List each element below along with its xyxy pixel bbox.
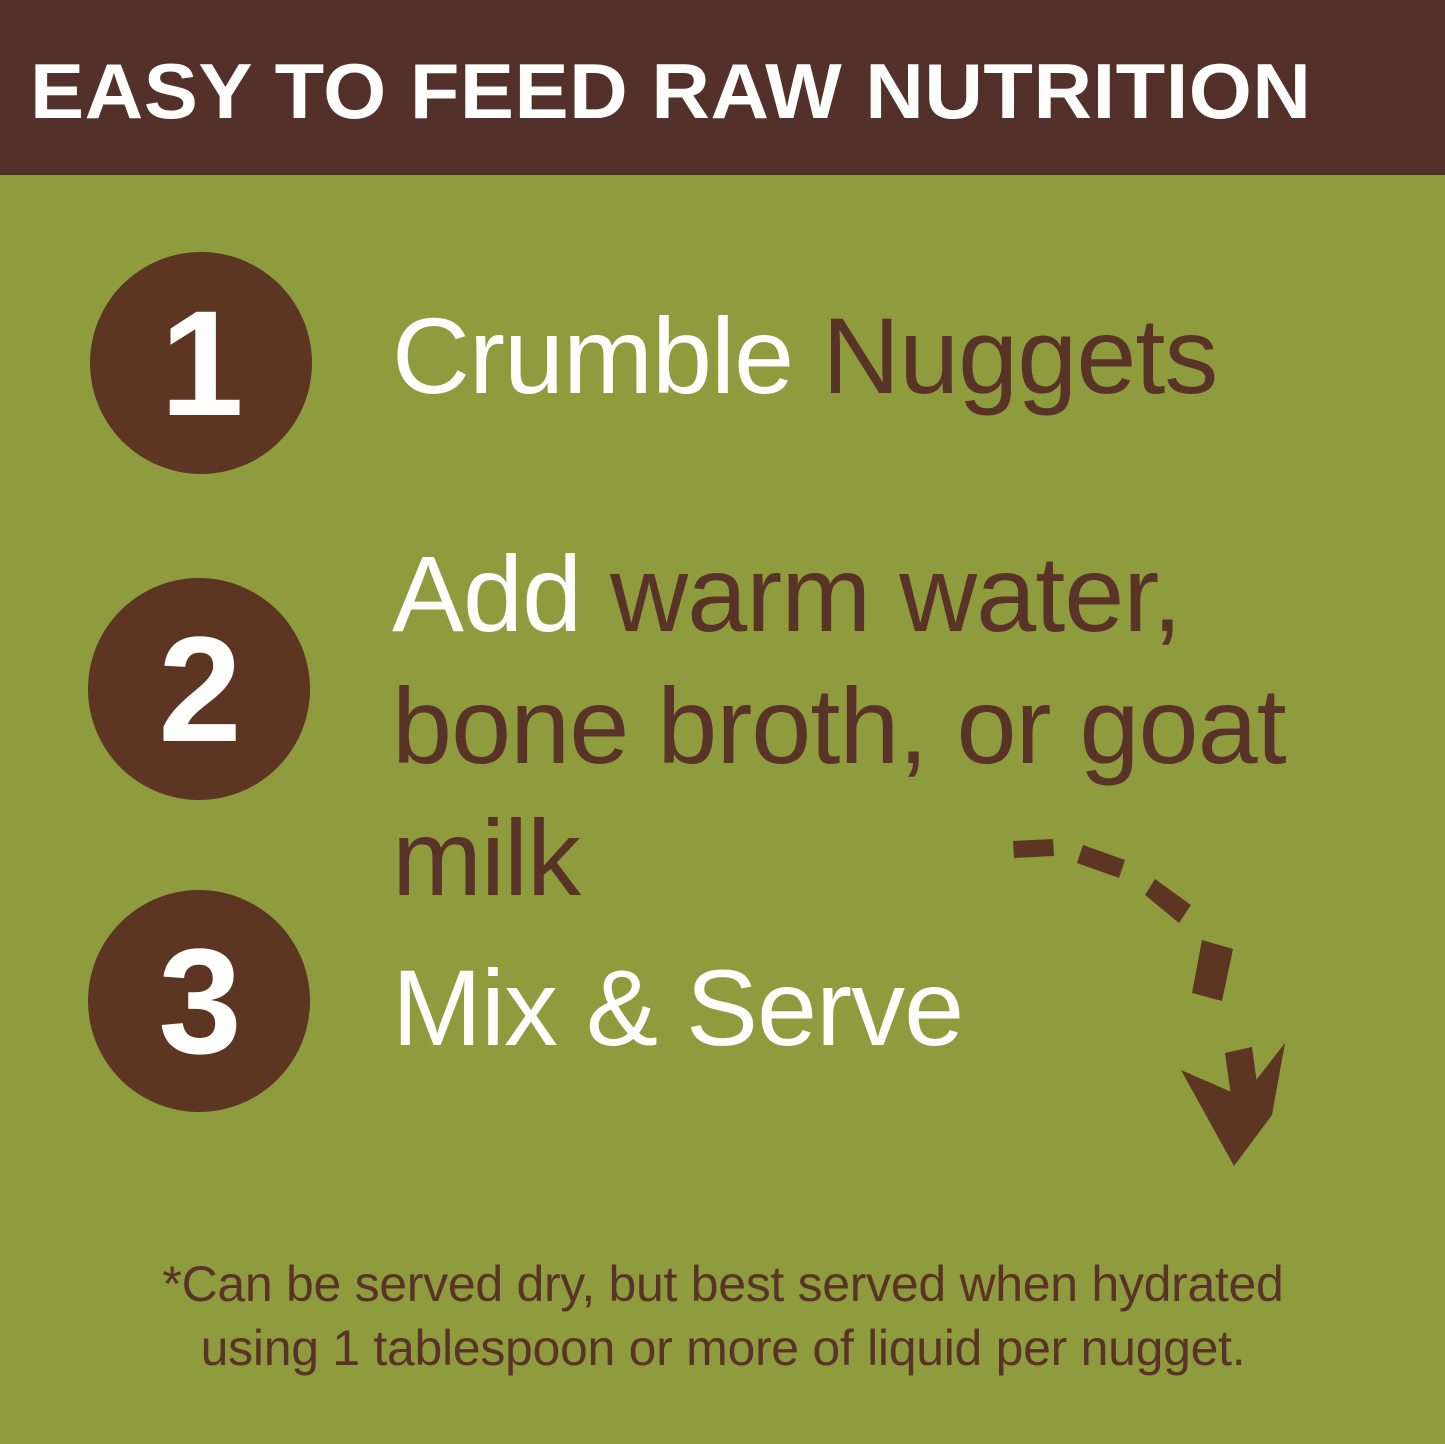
step-number-1: 1 (90, 252, 312, 474)
step-instruction-3-lead: Mix & Serve (392, 947, 963, 1068)
step-badge-3: 3 (88, 890, 310, 1112)
header-band: EASY TO FEED RAW NUTRITION (0, 0, 1445, 175)
step-number-3: 3 (88, 890, 310, 1112)
page-title: EASY TO FEED RAW NUTRITION (30, 44, 1445, 139)
step-badge-1: 1 (90, 252, 312, 474)
feeding-instructions-poster: EASY TO FEED RAW NUTRITION 1 Crumble Nug… (0, 0, 1445, 1444)
step-instruction-2-lead: Add (392, 533, 610, 654)
step-instruction-1-lead: Crumble (392, 295, 822, 416)
footnote: *Can be served dry, but best served when… (28, 1252, 1418, 1380)
footnote-line-1: *Can be served dry, but best served when… (28, 1252, 1418, 1316)
curved-dashed-down-arrow-icon (995, 815, 1295, 1120)
footnote-line-2: using 1 tablespoon or more of liquid per… (28, 1316, 1418, 1380)
step-badge-2: 2 (88, 578, 310, 800)
step-number-2: 2 (88, 578, 310, 800)
step-instruction-1-rest: Nuggets (822, 295, 1217, 416)
step-instruction-1: Crumble Nuggets (392, 290, 1402, 422)
